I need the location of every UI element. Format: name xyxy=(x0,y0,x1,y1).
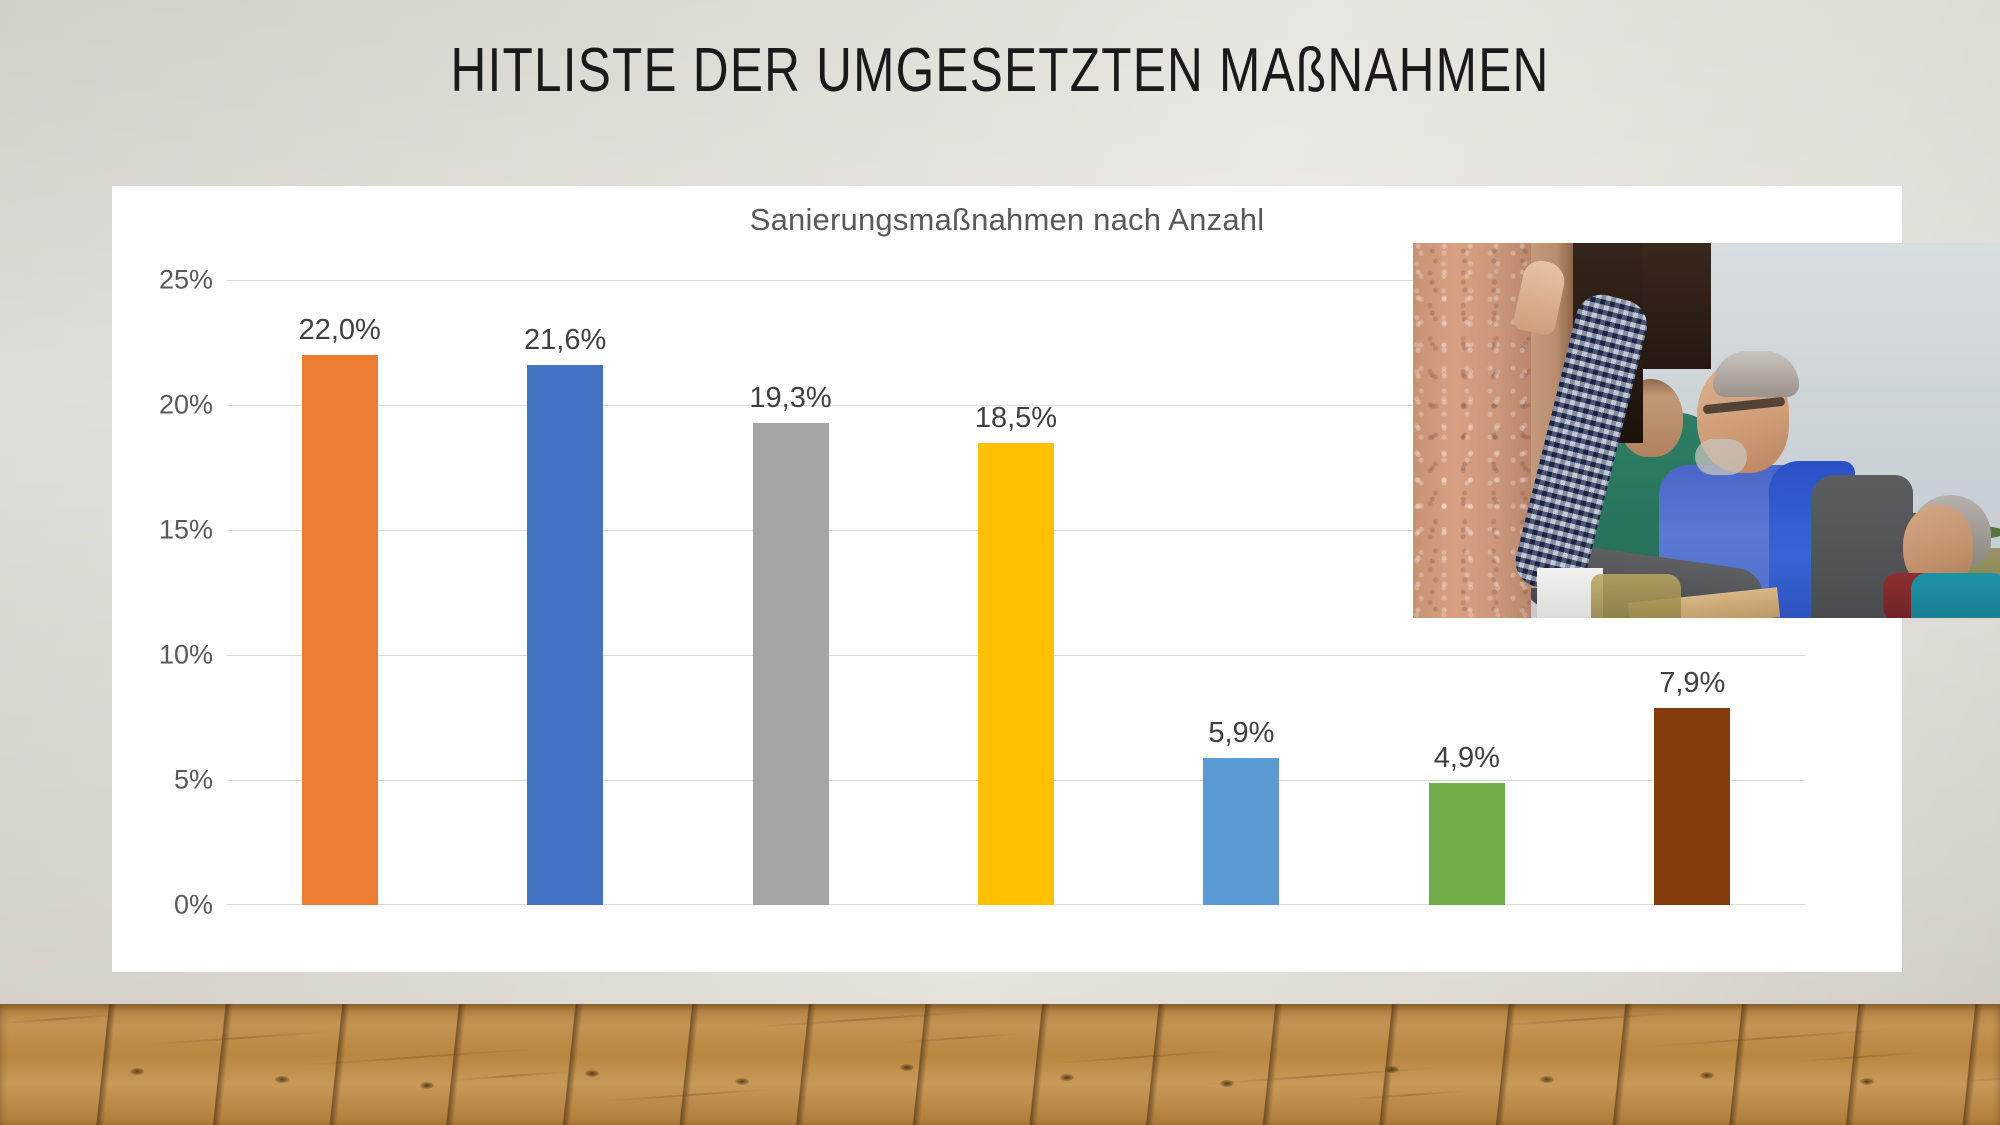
floor-grain xyxy=(0,1014,120,1024)
photo-person-front-beard xyxy=(1695,439,1747,475)
bar-anderes[interactable] xyxy=(1654,708,1730,906)
floor-knot xyxy=(900,1064,914,1071)
floor-grain xyxy=(1650,1029,1890,1048)
floor-grain xyxy=(1050,1050,1230,1065)
floor-grain xyxy=(1200,1067,1440,1086)
bar-group: 18,5%Heizung EE xyxy=(903,280,1128,905)
bar-group: 19,3%Heizung konv. xyxy=(678,280,903,905)
bar-solarthermie[interactable] xyxy=(1203,758,1279,906)
chart-title: Sanierungsmaßnahmen nach Anzahl xyxy=(112,202,1902,238)
floor-grain xyxy=(600,1088,780,1103)
y-axis-tick-label: 20% xyxy=(93,390,213,421)
photo-insulation-bag xyxy=(1591,574,1681,618)
floor-knot xyxy=(1540,1076,1554,1083)
bar-heizung-ee[interactable] xyxy=(978,443,1054,906)
y-axis-tick-label: 0% xyxy=(93,890,213,921)
floor-grain xyxy=(900,1033,1020,1043)
floor-knot xyxy=(275,1076,289,1083)
slide-canvas: HITLISTE DER UMGESETZTEN MAßNAHMEN Sanie… xyxy=(0,0,2000,1125)
y-axis-tick-label: 25% xyxy=(93,265,213,296)
bar-value-label: 5,9% xyxy=(1208,717,1274,750)
bar-value-label: 22,0% xyxy=(299,314,381,347)
energy-consultation-photo xyxy=(1413,243,2000,618)
photo-facade-wall xyxy=(1413,243,1531,618)
photo-facade-texture xyxy=(1413,243,1531,618)
bar-value-label: 19,3% xyxy=(749,382,831,415)
floor-grain xyxy=(1350,1090,1470,1100)
floor-grain xyxy=(1800,1052,1920,1062)
bar-value-label: 4,9% xyxy=(1434,742,1500,775)
floor-grain xyxy=(450,1071,570,1081)
bar-value-label: 7,9% xyxy=(1659,667,1725,700)
floor-knot xyxy=(1860,1078,1874,1085)
bar-group: 22,0%Dämmung xyxy=(227,280,452,905)
bar-group: 21,6%Fenster/Tür xyxy=(452,280,677,905)
bar-d-mmung[interactable] xyxy=(302,355,378,905)
floor-knot xyxy=(1700,1072,1714,1079)
bar-fenster-t-r[interactable] xyxy=(527,365,603,905)
bar-value-label: 18,5% xyxy=(975,402,1057,435)
floor-knot xyxy=(420,1082,434,1089)
floor-grain xyxy=(750,1010,990,1029)
bar-value-label: 21,6% xyxy=(524,324,606,357)
wooden-floor-strip xyxy=(0,1004,2000,1125)
bar-heizung-konv[interactable] xyxy=(753,423,829,906)
photo-person-right-top xyxy=(1911,573,2000,618)
photo-person-front-hair xyxy=(1713,351,1799,397)
bar-pv[interactable] xyxy=(1429,783,1505,906)
y-axis-tick-label: 15% xyxy=(93,515,213,546)
floor-grain xyxy=(300,1048,540,1067)
bar-group: 5,9%Solarthermie xyxy=(1129,280,1354,905)
floor-knot xyxy=(735,1078,749,1085)
y-axis-tick-label: 10% xyxy=(93,640,213,671)
floor-grain xyxy=(150,1031,330,1046)
floor-grain xyxy=(1950,1069,2000,1084)
y-axis-tick-label: 5% xyxy=(93,765,213,796)
floor-knot xyxy=(1060,1074,1074,1081)
floor-knot xyxy=(130,1068,144,1075)
floor-knot xyxy=(585,1070,599,1077)
floor-grain xyxy=(1500,1012,1680,1027)
page-title: HITLISTE DER UMGESETZTEN MAßNAHMEN xyxy=(200,35,1800,106)
